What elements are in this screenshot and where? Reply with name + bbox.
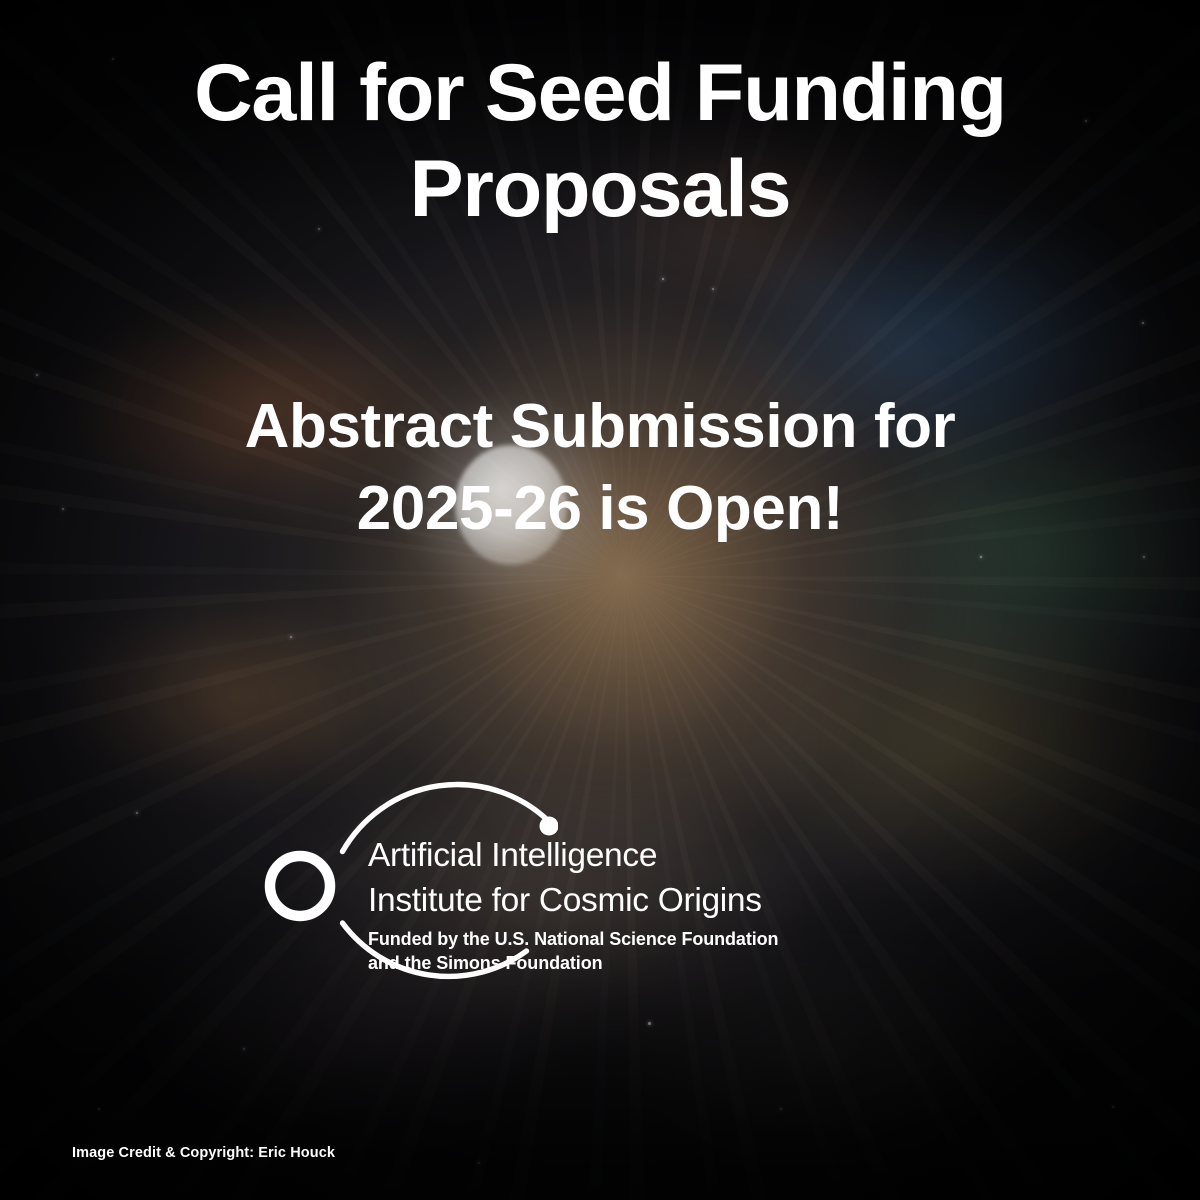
logo-funder-line-1: Funded by the U.S. National Science Foun… [368,928,858,952]
page-subtitle: Abstract Submission for 2025-26 is Open! [0,386,1200,550]
page-title: Call for Seed Funding Proposals [0,46,1200,237]
subhead-line-1: Abstract Submission for [60,386,1140,468]
logo-title-line-2: Institute for Cosmic Origins [368,879,858,924]
logo-funder-line-2: and the Simons Foundation [368,952,858,976]
subhead-line-2: 2025-26 is Open! [60,468,1140,550]
logo-wordmark: Artificial Intelligence Institute for Co… [368,834,858,976]
image-credit: Image Credit & Copyright: Eric Houck [72,1145,335,1161]
poster-canvas: Call for Seed Funding Proposals Abstract… [0,0,1200,1200]
headline-line-2: Proposals [46,142,1154,238]
donut-ring-icon [270,856,330,916]
orbit-dot-icon [540,817,559,836]
logo-title-line-1: Artificial Intelligence [368,834,858,879]
institute-logo: Artificial Intelligence Institute for Co… [258,748,858,1026]
headline-line-1: Call for Seed Funding [46,46,1154,142]
